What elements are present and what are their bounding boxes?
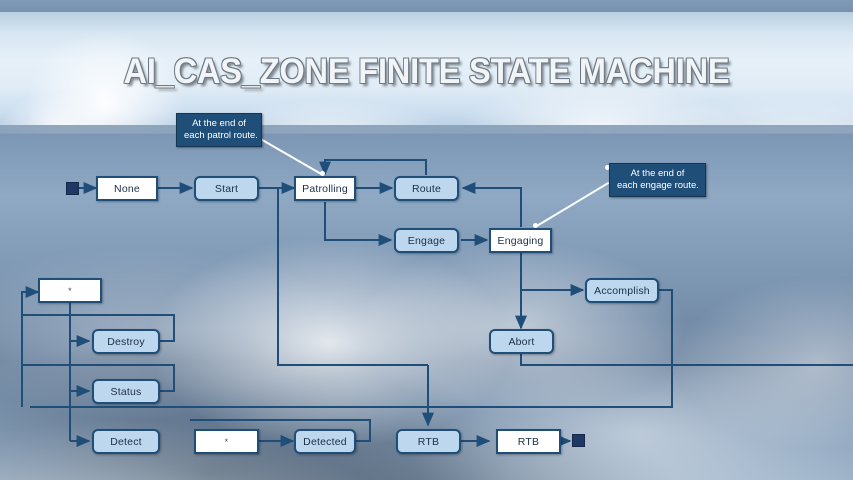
node-rtb-blue-label: RTB: [418, 436, 439, 448]
node-engaging[interactable]: Engaging: [489, 228, 552, 253]
node-destroy-label: Destroy: [107, 336, 145, 348]
node-accomplish[interactable]: Accomplish: [585, 278, 659, 303]
callout-patrol-line2: each patrol route.: [184, 130, 254, 142]
start-terminal: [66, 182, 79, 195]
callout-patrol-line1: At the end of: [184, 118, 254, 130]
node-rtb-white[interactable]: RTB: [496, 429, 561, 454]
node-star-bottom[interactable]: *: [194, 429, 259, 454]
end-terminal: [572, 434, 585, 447]
node-star-bottom-label: *: [225, 437, 229, 447]
slide-canvas: AI_CAS_ZONE FINITE STATE MACHINE: [0, 0, 853, 480]
node-patrolling-label: Patrolling: [302, 183, 348, 195]
node-patrolling[interactable]: Patrolling: [294, 176, 356, 201]
callout-engage-route: At the end of each engage route.: [609, 163, 706, 197]
node-detected[interactable]: Detected: [294, 429, 356, 454]
node-abort[interactable]: Abort: [489, 329, 554, 354]
node-star-left-label: *: [68, 286, 72, 296]
node-star-left[interactable]: *: [38, 278, 102, 303]
node-start-label: Start: [215, 183, 238, 195]
node-accomplish-label: Accomplish: [594, 285, 650, 297]
node-status[interactable]: Status: [92, 379, 160, 404]
node-route-label: Route: [412, 183, 441, 195]
node-status-label: Status: [111, 386, 142, 398]
node-start[interactable]: Start: [194, 176, 259, 201]
callout-engage-line1: At the end of: [617, 168, 698, 180]
callout-engage-line2: each engage route.: [617, 180, 698, 192]
node-detected-label: Detected: [303, 436, 347, 448]
node-engage[interactable]: Engage: [394, 228, 459, 253]
node-engage-label: Engage: [408, 235, 445, 247]
callout-patrol-leader-dot-end: [320, 171, 325, 176]
node-detect[interactable]: Detect: [92, 429, 160, 454]
node-abort-label: Abort: [508, 336, 534, 348]
state-machine-diagram: None Start Patrolling Route Engage Engag…: [0, 0, 853, 480]
node-route[interactable]: Route: [394, 176, 459, 201]
callout-engage-leader-dot-start: [533, 223, 538, 228]
node-none[interactable]: None: [96, 176, 158, 201]
node-destroy[interactable]: Destroy: [92, 329, 160, 354]
node-rtb-blue[interactable]: RTB: [396, 429, 461, 454]
node-rtb-white-label: RTB: [518, 436, 539, 448]
node-none-label: None: [114, 183, 140, 195]
node-detect-label: Detect: [110, 436, 142, 448]
node-engaging-label: Engaging: [498, 235, 544, 247]
callout-patrol-route: At the end of each patrol route.: [176, 113, 262, 147]
